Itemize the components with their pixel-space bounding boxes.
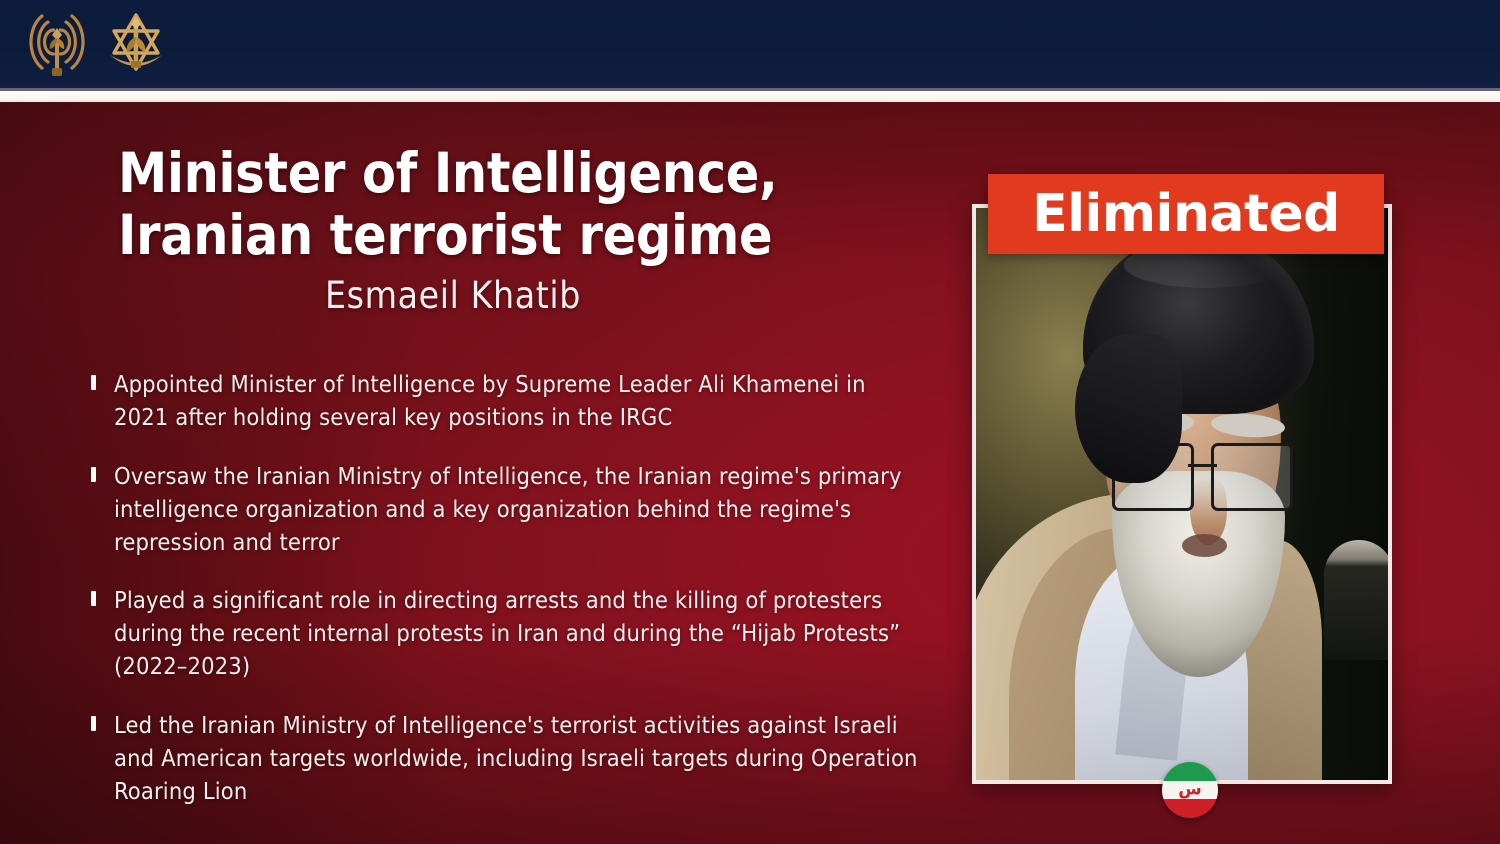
portrait-frame	[972, 204, 1392, 784]
glasses-lens-right	[1211, 443, 1293, 512]
list-item: Appointed Minister of Intelligence by Su…	[84, 368, 924, 434]
list-item: Oversaw the Iranian Ministry of Intellig…	[84, 460, 924, 559]
header-emblem-group	[28, 7, 172, 81]
flag-emblem-icon: س	[1178, 782, 1201, 799]
list-item-text: Appointed Minister of Intelligence by Su…	[114, 370, 866, 431]
list-item: Played a significant role in directing a…	[84, 584, 924, 683]
portrait-turban-side	[1075, 334, 1182, 483]
bullet-marker-icon	[91, 467, 96, 482]
content-column: Minister of Intelligence, Iranian terror…	[0, 102, 960, 844]
iran-flag-badge: س	[1162, 762, 1218, 818]
portrait-image	[976, 208, 1388, 780]
flag-stripe-red	[1162, 799, 1218, 818]
list-item: Led the Iranian Ministry of Intelligence…	[84, 709, 924, 808]
bullet-marker-icon	[91, 716, 96, 731]
idf-spokesperson-broadcast-emblem	[28, 8, 86, 80]
idf-crest-emblem	[100, 7, 172, 81]
title-block: Minister of Intelligence, Iranian terror…	[118, 142, 908, 317]
list-item-text: Oversaw the Iranian Ministry of Intellig…	[114, 462, 902, 556]
status-badge: Eliminated	[988, 174, 1384, 254]
header-bar	[0, 0, 1500, 88]
status-badge-label: Eliminated	[1032, 188, 1340, 240]
list-item-text: Played a significant role in directing a…	[114, 586, 900, 680]
bullet-marker-icon	[91, 591, 96, 606]
flag-stripe-green	[1162, 762, 1218, 781]
person-name: Esmaeil Khatib	[118, 276, 908, 317]
bullet-marker-icon	[91, 375, 96, 390]
list-item-text: Led the Iranian Ministry of Intelligence…	[114, 711, 918, 805]
bullet-list: Appointed Minister of Intelligence by Su…	[84, 368, 924, 808]
portrait-mouth	[1182, 534, 1227, 557]
glasses-bridge	[1188, 464, 1217, 467]
header-separator-band	[0, 91, 1500, 102]
photo-card: Eliminated س	[972, 204, 1392, 784]
slide-root: Minister of Intelligence, Iranian terror…	[0, 0, 1500, 844]
page-title: Minister of Intelligence, Iranian terror…	[118, 142, 908, 266]
portrait-background-object	[1324, 540, 1392, 660]
